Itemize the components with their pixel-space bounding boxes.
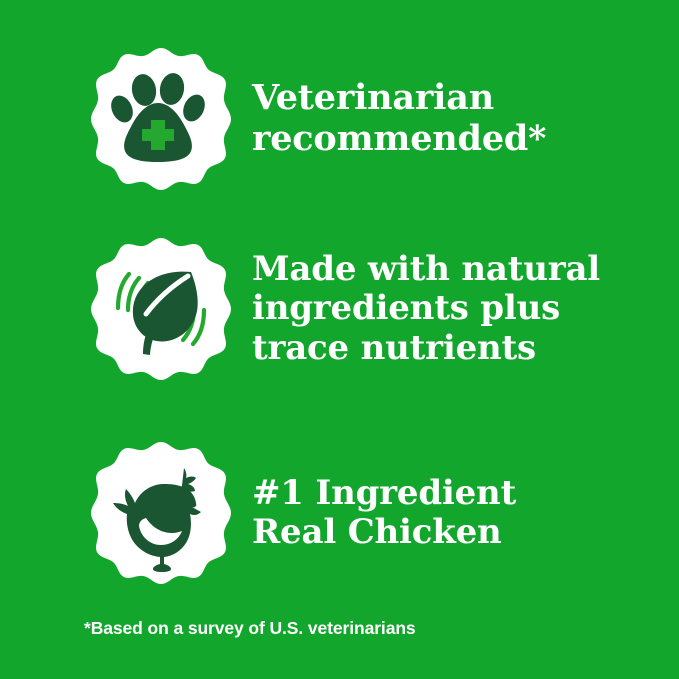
feature-label-real-chicken: #1 Ingredient Real Chicken [252, 474, 516, 553]
badge-veterinarian [88, 46, 234, 192]
feature-item-real-chicken: #1 Ingredient Real Chicken [88, 440, 516, 586]
badge-real-chicken [88, 440, 234, 586]
feature-label-veterinarian: Veterinarian recommended* [252, 78, 546, 159]
badge-natural-ingredients [88, 236, 234, 382]
feature-item-natural-ingredients: Made with natural ingredients plus trace… [88, 236, 600, 382]
footnote-disclaimer: *Based on a survey of U.S. veterinarians [84, 618, 416, 639]
feature-label-natural-ingredients: Made with natural ingredients plus trace… [252, 250, 600, 368]
promo-panel: Veterinarian recommended* [0, 0, 679, 679]
feature-item-veterinarian: Veterinarian recommended* [88, 46, 546, 192]
